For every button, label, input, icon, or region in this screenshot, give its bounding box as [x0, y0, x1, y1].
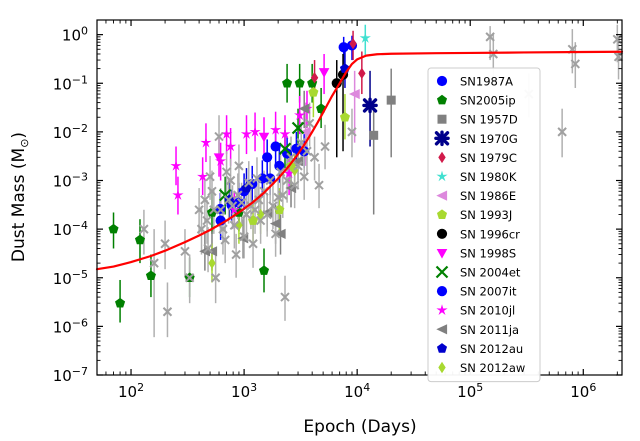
data-point-SN2007it [271, 141, 281, 151]
legend-item-SN1970G[interactable]: SN 1970G [436, 132, 518, 146]
legend-marker-circle-icon [437, 286, 447, 296]
chart-svg: 10210310410510610010−110−210−310−410−510… [0, 0, 640, 441]
legend-label: SN 2012aw [460, 361, 525, 375]
legend-label: SN 2007it [460, 285, 517, 299]
legend-label: SN 1986E [460, 189, 516, 203]
data-point-SN2007it [262, 152, 272, 162]
legend-label: SN 1980K [460, 170, 517, 184]
legend-label: SN 1998S [460, 246, 516, 260]
chart-legend: SN1987ASN2005ipSN 1957DSN 1970GSN 1979CS… [428, 68, 540, 382]
legend-label: SN1987A [460, 75, 513, 89]
legend-marker-circle-icon [437, 76, 447, 86]
legend-label: SN 1996cr [460, 227, 520, 241]
legend-label: SN 1970G [460, 132, 518, 146]
legend-label: SN 1957D [460, 113, 518, 127]
y-axis-title: Dust Mass (M⊙) [9, 132, 31, 262]
legend-label: SN 2004et [460, 266, 521, 280]
legend-marker-square-icon [438, 115, 447, 124]
data-point-SN1957D [369, 131, 378, 140]
x-axis-title: Epoch (Days) [303, 417, 416, 437]
legend-label: SN2005ip [460, 94, 516, 108]
legend-label: SN 2010jl [460, 304, 515, 318]
data-point-SN1957D [387, 96, 396, 105]
legend-label: SN 1993J [460, 208, 512, 222]
legend-label: SN 2012au [460, 342, 523, 356]
chart-figure: 10210310410510610010−110−210−310−410−510… [0, 0, 640, 441]
legend-label: SN 1979C [460, 151, 517, 165]
legend-label: SN 2011ja [460, 323, 519, 337]
legend-marker-circle-icon [437, 229, 447, 239]
